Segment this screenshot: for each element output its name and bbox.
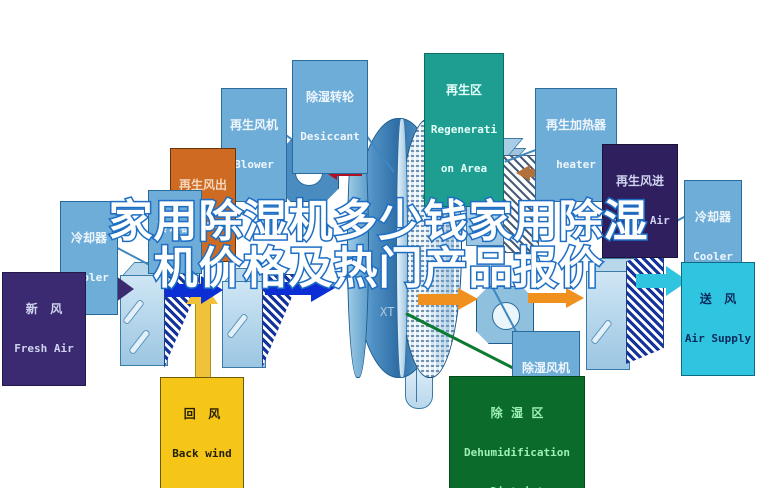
label-regen-area-en2: on Area [427,163,501,175]
label-air-supply-en: Air Supply [684,333,752,345]
label-regen-area[interactable]: 再生区 Regenerati on Area [424,53,504,207]
label-dehum-blower-cn: 除湿风机 [515,362,577,375]
label-back-wind-en: Back wind [163,448,241,460]
label-desiccant-cn: 除湿转轮 [295,91,365,104]
watermark-line-2: 机价格及热门产品报价 [0,245,757,292]
label-regen-area-en: Regenerati [427,124,501,136]
label-desiccant[interactable]: 除湿转轮 Desiccant [292,60,368,174]
label-dehum-district-en: Dehumidification [452,447,582,459]
label-back-wind-cn: 回 风 [163,408,241,421]
label-dehum-district-cn: 除 湿 区 [452,407,582,420]
dehumidifier-diagram: XT [0,0,757,488]
label-regen-heater-cn: 再生加热器 [538,119,614,132]
condensate-drain-seam [416,368,417,402]
label-back-wind[interactable]: 回 风 Back wind [160,377,244,488]
label-air-supply-cn: 送 风 [684,293,752,306]
label-regen-blower-cn: 再生风机 [224,119,284,132]
label-dehum-district[interactable]: 除 湿 区 Dehumidification District [449,376,585,488]
label-desiccant-en: Desiccant [295,131,365,143]
label-regen-fresh-air-cn: 再生风进 [605,175,675,188]
label-fresh-air-en: Fresh Air [5,343,83,355]
label-fresh-air-cn: 新 风 [5,303,83,316]
label-regen-area-cn: 再生区 [427,84,501,97]
watermark-overlay: 家用除湿机多少钱家用除湿 机价格及热门产品报价 [0,198,757,292]
rotor-watermark: XT [380,305,394,319]
watermark-line-1: 家用除湿机多少钱家用除湿 [0,198,757,245]
